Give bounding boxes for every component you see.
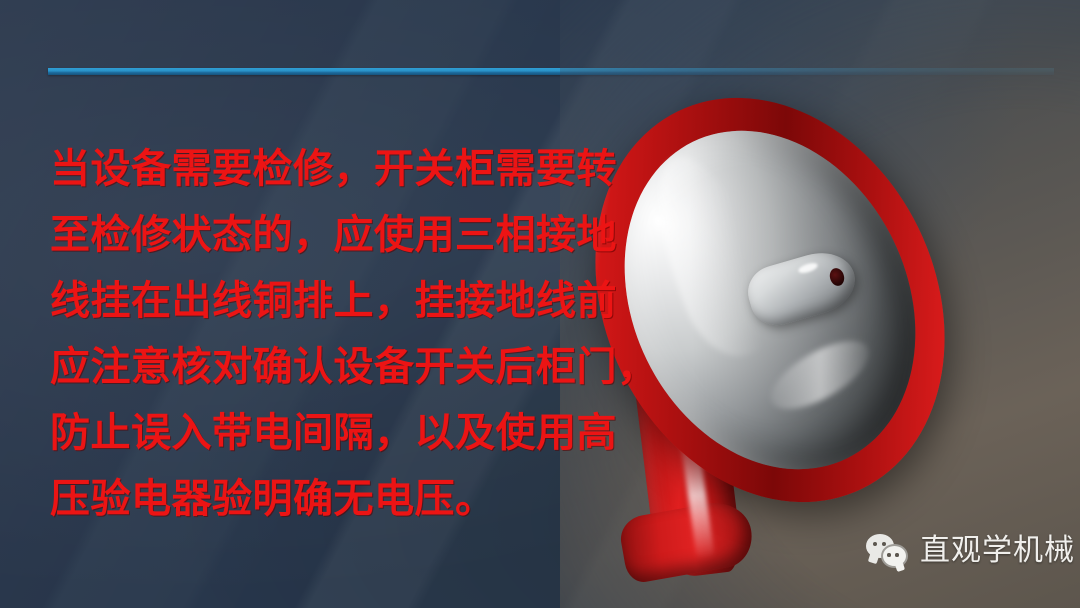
wechat-bubble-large-dot-2 — [882, 542, 886, 546]
warning-line-6: 压验电器验明确无电压。 — [50, 466, 610, 532]
slide-canvas: 当设备需要检修，开关柜需要转 至检修状态的，应使用三相接地 线挂在出线铜排上，挂… — [0, 0, 1080, 608]
wechat-watermark: 直观学机械 — [866, 534, 1075, 568]
warning-line-2: 至检修状态的，应使用三相接地 — [50, 202, 610, 268]
warning-line-3: 线挂在出线铜排上，挂接地线前 — [50, 268, 610, 334]
megaphone-grip-foot — [617, 497, 756, 585]
megaphone-illustration — [560, 0, 1080, 608]
wechat-icon — [866, 534, 908, 568]
warning-line-1: 当设备需要检修，开关柜需要转 — [50, 136, 610, 202]
wechat-bubble-small-dot-1 — [887, 553, 891, 557]
wechat-bubble-large-dot-1 — [873, 542, 877, 546]
warning-paragraph: 当设备需要检修，开关柜需要转 至检修状态的，应使用三相接地 线挂在出线铜排上，挂… — [50, 136, 610, 532]
wechat-bubble-small-dot-2 — [895, 553, 899, 557]
warning-line-4: 应注意核对确认设备开关后柜门， — [50, 334, 610, 400]
warning-line-5: 防止误入带电间隔，以及使用高 — [50, 400, 610, 466]
megaphone-group — [560, 0, 1080, 608]
wechat-bubble-small — [881, 544, 908, 568]
wechat-account-name: 直观学机械 — [920, 536, 1075, 566]
